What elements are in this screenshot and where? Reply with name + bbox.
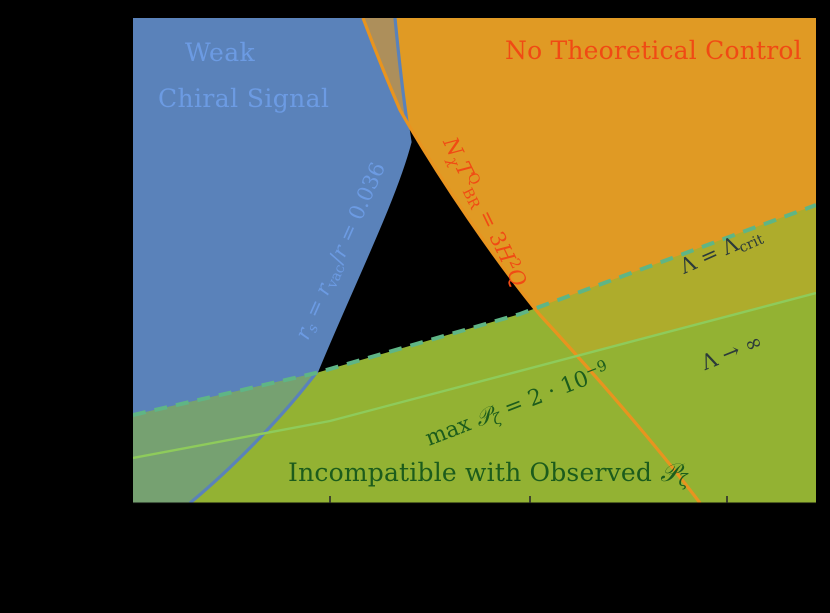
figure-canvas: Weak Chiral Signal No Theoretical Contro… — [0, 0, 830, 613]
constraint-region-plot — [0, 0, 830, 613]
